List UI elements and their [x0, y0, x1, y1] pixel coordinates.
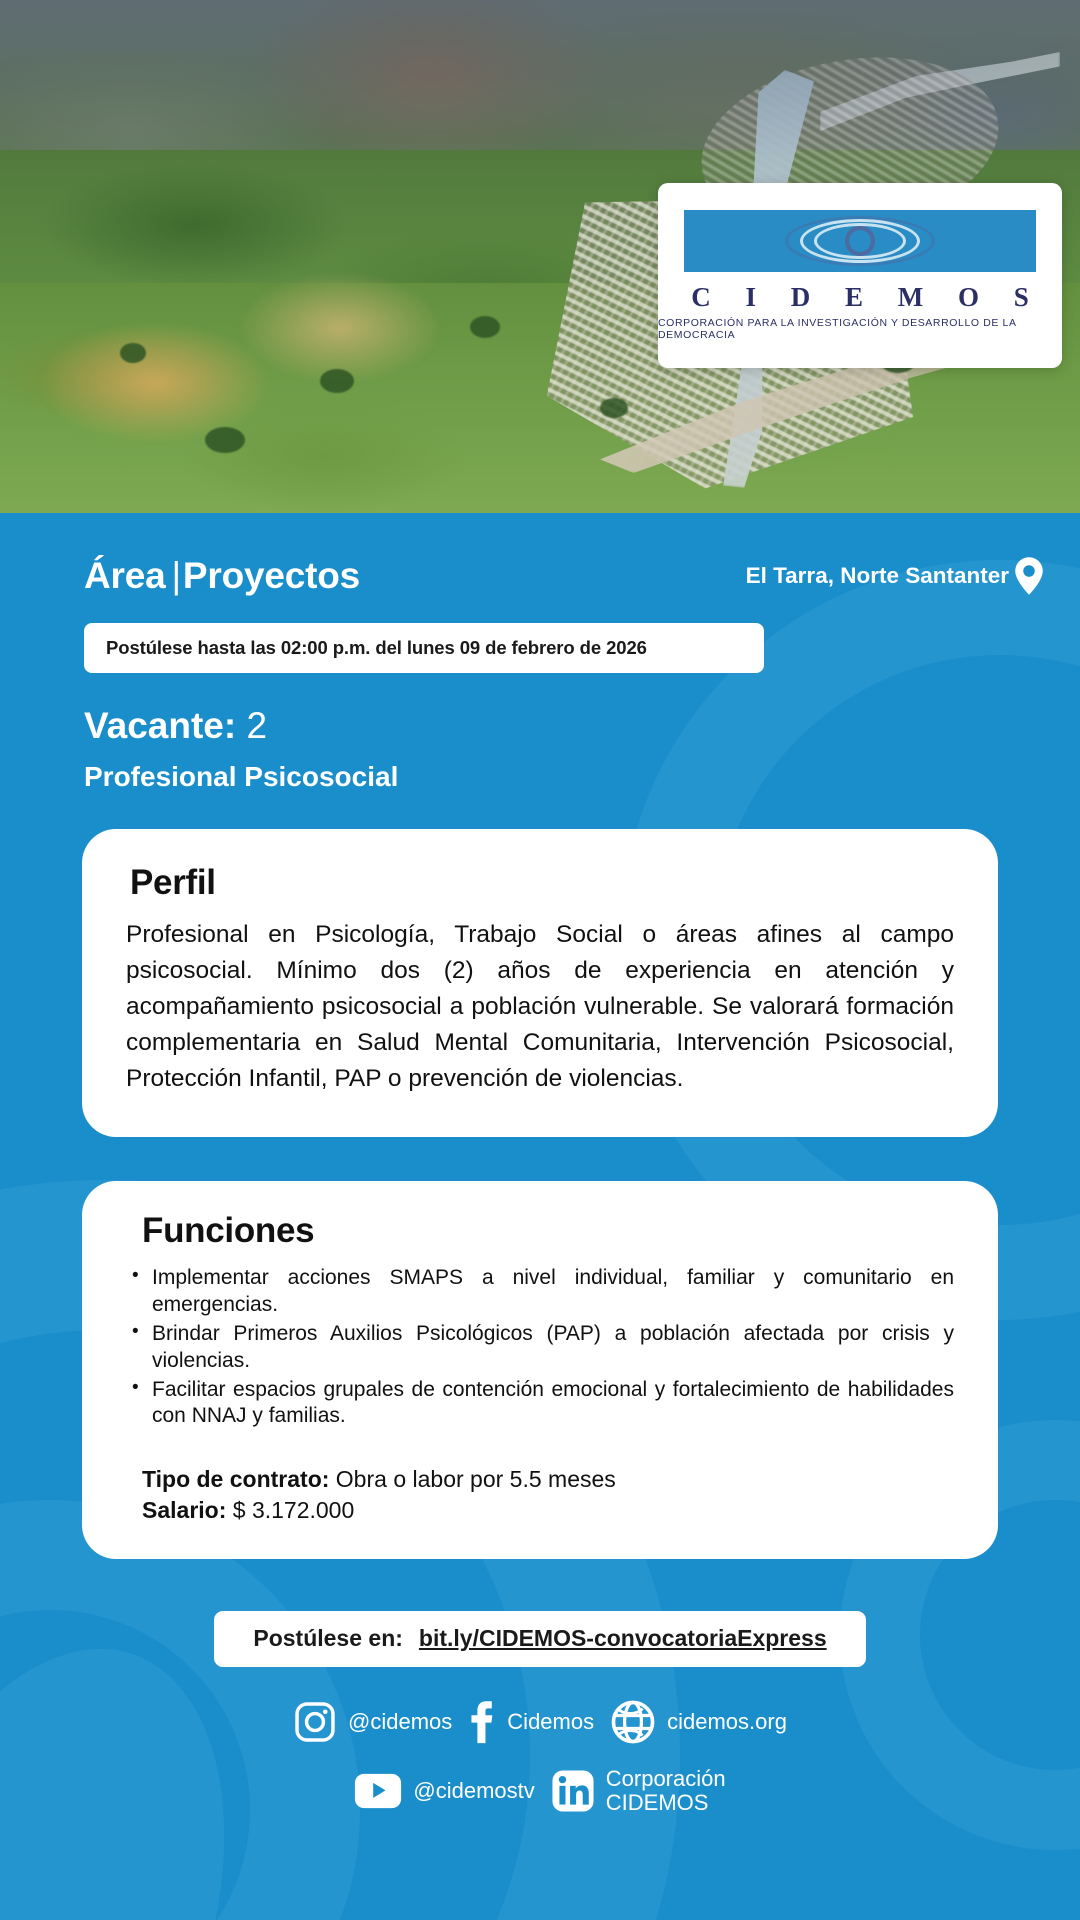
- social-linkedin[interactable]: Corporación CIDEMOS: [551, 1767, 726, 1815]
- list-item: Brindar Primeros Auxilios Psicológicos (…: [126, 1321, 954, 1375]
- social-youtube[interactable]: @cidemostv: [354, 1773, 534, 1809]
- youtube-icon[interactable]: [354, 1773, 402, 1809]
- salary-row: Salario: $ 3.172.000: [142, 1495, 954, 1525]
- main-content: Área|Proyectos El Tarra, Norte Santanter…: [0, 513, 1080, 1815]
- perfil-heading: Perfil: [130, 863, 954, 903]
- location-text: El Tarra, Norte Santanter: [746, 563, 1009, 589]
- facebook-icon[interactable]: [468, 1699, 496, 1745]
- role-title: Profesional Psicosocial: [84, 761, 1080, 793]
- linkedin-handle-line1: Corporación: [606, 1766, 726, 1791]
- list-item: Facilitar espacios grupales de contenció…: [126, 1377, 954, 1431]
- social-facebook[interactable]: Cidemos: [468, 1699, 594, 1745]
- salary-label: Salario:: [142, 1497, 226, 1523]
- salary-value: $ 3.172.000: [233, 1497, 355, 1523]
- logo-ring-core: [845, 226, 875, 256]
- youtube-handle: @cidemostv: [413, 1778, 534, 1804]
- funciones-list: Implementar acciones SMAPS a nivel indiv…: [126, 1265, 954, 1430]
- social-row-secondary: @cidemostv Corporación CIDEMOS: [0, 1767, 1080, 1815]
- logo-tagline: CORPORACIÓN PARA LA INVESTIGACIÓN Y DESA…: [658, 317, 1062, 341]
- instagram-handle: @cidemos: [348, 1709, 452, 1735]
- logo-emblem: [684, 210, 1036, 272]
- area-value: Proyectos: [183, 555, 360, 596]
- apply-label: Postúlese en:: [253, 1625, 403, 1652]
- contract-label: Tipo de contrato:: [142, 1466, 329, 1492]
- area-title: Área|Proyectos: [84, 555, 360, 597]
- linkedin-handle: Corporación CIDEMOS: [606, 1767, 726, 1815]
- vacancy-count: 2: [246, 705, 267, 746]
- apply-link[interactable]: bit.ly/CIDEMOS-convocatoriaExpress: [419, 1625, 827, 1652]
- deadline-text: Postúlese hasta las 02:00 p.m. del lunes…: [106, 637, 647, 659]
- vacancy-label: Vacante:: [84, 705, 236, 746]
- facebook-handle: Cidemos: [507, 1709, 594, 1735]
- location: El Tarra, Norte Santanter: [746, 557, 1044, 595]
- contract-row: Tipo de contrato: Obra o labor por 5.5 m…: [142, 1464, 954, 1494]
- contract-value: Obra o labor por 5.5 meses: [336, 1466, 616, 1492]
- logo-wordmark: C I D E M O S: [677, 282, 1043, 313]
- map-pin-icon: [1014, 557, 1044, 595]
- linkedin-icon[interactable]: [551, 1769, 595, 1813]
- vacancy-count-line: Vacante: 2: [84, 705, 1080, 747]
- deadline-banner: Postúlese hasta las 02:00 p.m. del lunes…: [84, 623, 764, 673]
- linkedin-handle-line2: CIDEMOS: [606, 1790, 709, 1815]
- globe-icon[interactable]: [610, 1699, 656, 1745]
- list-item: Implementar acciones SMAPS a nivel indiv…: [126, 1265, 954, 1319]
- cidemos-logo-card: C I D E M O S CORPORACIÓN PARA LA INVEST…: [658, 183, 1062, 368]
- website-handle: cidemos.org: [667, 1709, 787, 1735]
- perfil-card: Perfil Profesional en Psicología, Trabaj…: [82, 829, 998, 1137]
- area-label: Área: [84, 555, 165, 596]
- perfil-body: Profesional en Psicología, Trabajo Socia…: [126, 917, 954, 1097]
- apply-banner[interactable]: Postúlese en: bit.ly/CIDEMOS-convocatori…: [214, 1611, 866, 1667]
- social-website[interactable]: cidemos.org: [610, 1699, 787, 1745]
- area-separator: |: [171, 555, 180, 596]
- funciones-heading: Funciones: [142, 1211, 954, 1251]
- funciones-card: Funciones Implementar acciones SMAPS a n…: [82, 1181, 998, 1559]
- meta-row: Área|Proyectos El Tarra, Norte Santanter: [0, 513, 1080, 597]
- instagram-icon[interactable]: [293, 1700, 337, 1744]
- social-row-primary: @cidemos Cidemos cidemos.org: [0, 1699, 1080, 1745]
- contract-details: Tipo de contrato: Obra o labor por 5.5 m…: [126, 1464, 954, 1525]
- social-instagram[interactable]: @cidemos: [293, 1700, 452, 1744]
